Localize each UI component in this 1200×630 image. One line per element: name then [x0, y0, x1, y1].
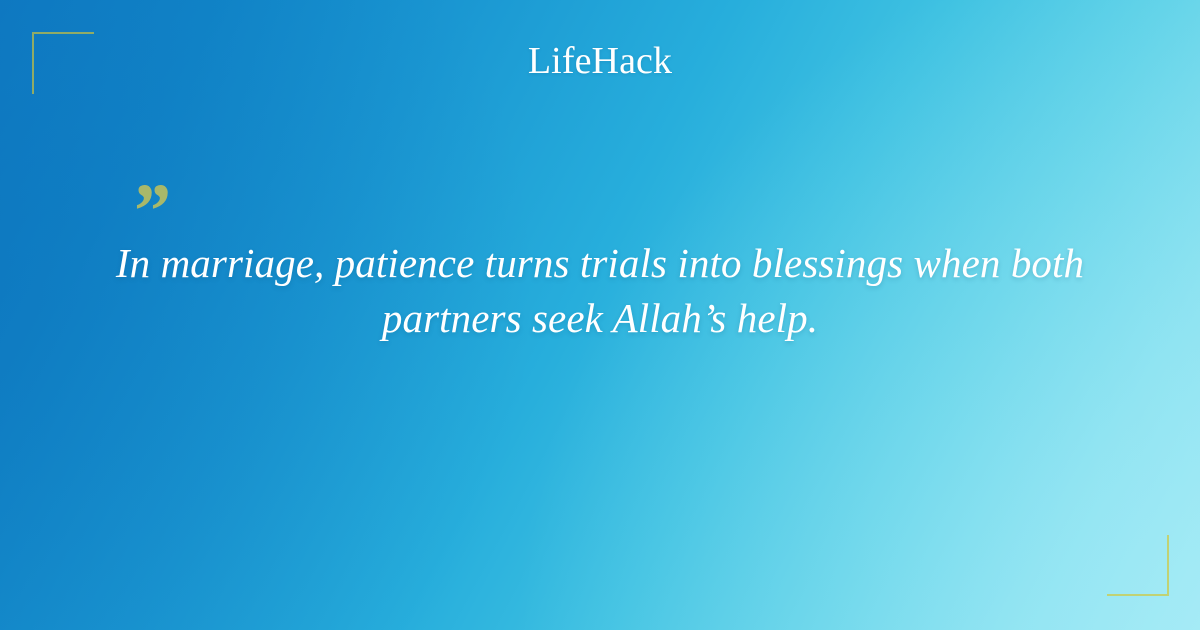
quote-card: LifeHack ” In marriage, patience turns t… — [0, 0, 1200, 630]
quote-text: In marriage, patience turns trials into … — [100, 236, 1100, 346]
quote-block: ” In marriage, patience turns trials int… — [100, 190, 1100, 346]
quotation-mark-icon: ” — [130, 190, 1100, 236]
brand-logo-lifehack: LifeHack — [0, 42, 1200, 80]
corner-bracket-bottom-right-icon — [1107, 535, 1169, 596]
